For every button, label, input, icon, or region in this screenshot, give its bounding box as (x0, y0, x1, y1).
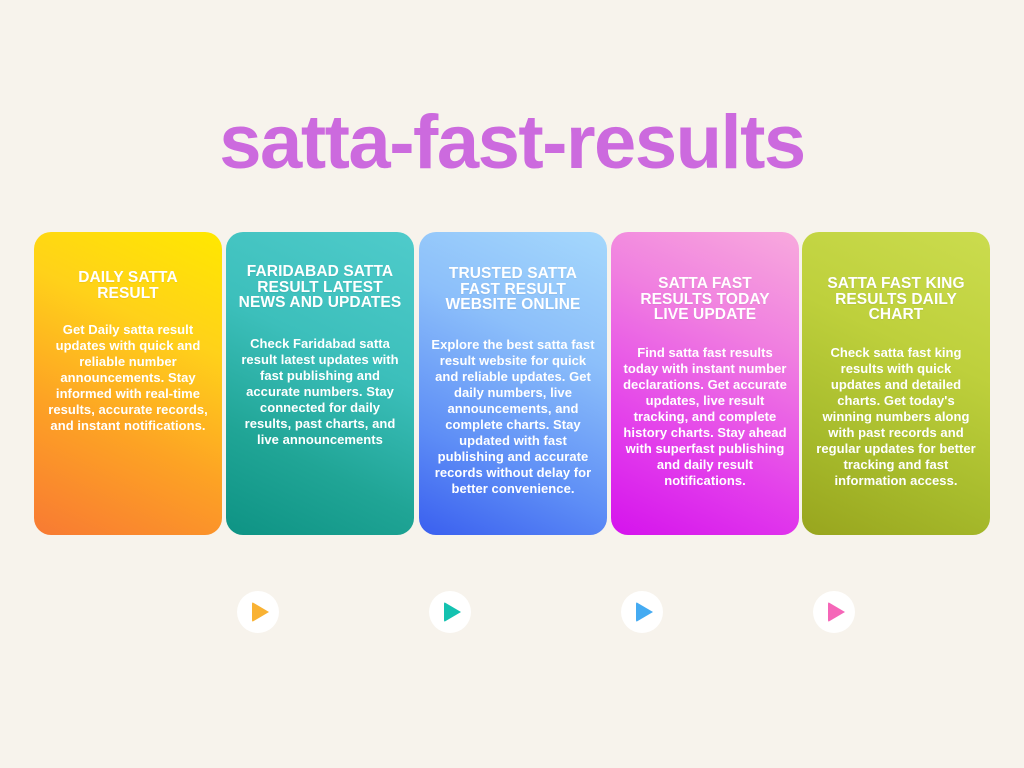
card-title: SATTA FAST RESULTS TODAY LIVE UPDATE (621, 276, 789, 323)
card-satta-fast-king-results-daily-chart[interactable]: SATTA FAST KING RESULTS DAILY CHART Chec… (802, 232, 990, 535)
play-arrow-glyph (444, 602, 461, 622)
card-title: FARIDABAD SATTA RESULT LATEST NEWS AND U… (236, 264, 404, 311)
card-trusted-satta-fast-result-website[interactable]: TRUSTED SATTA FAST RESULT WEBSITE ONLINE… (419, 232, 607, 535)
card-body: Explore the best satta fast result websi… (429, 337, 597, 497)
card-body: Check Faridabad satta result latest upda… (236, 336, 404, 448)
card-body: Check satta fast king results with quick… (812, 345, 980, 489)
play-arrow-icon-4[interactable] (813, 591, 855, 633)
play-arrow-glyph (636, 602, 653, 622)
card-body: Get Daily satta result updates with quic… (44, 322, 212, 434)
play-arrow-icon-2[interactable] (429, 591, 471, 633)
play-arrow-icon-1[interactable] (237, 591, 279, 633)
card-title: SATTA FAST KING RESULTS DAILY CHART (812, 276, 980, 323)
card-title: DAILY SATTA RESULT (44, 270, 212, 301)
play-arrow-glyph (828, 602, 845, 622)
card-faridabad-satta-result-latest-news[interactable]: FARIDABAD SATTA RESULT LATEST NEWS AND U… (226, 232, 414, 535)
play-arrow-icon-3[interactable] (621, 591, 663, 633)
card-daily-satta-result[interactable]: DAILY SATTA RESULT Get Daily satta resul… (34, 232, 222, 535)
page-title: satta-fast-results (0, 100, 1024, 186)
card-satta-fast-results-today-live-update[interactable]: SATTA FAST RESULTS TODAY LIVE UPDATE Fin… (611, 232, 799, 535)
card-title: TRUSTED SATTA FAST RESULT WEBSITE ONLINE (429, 266, 597, 313)
feature-cards-strip: DAILY SATTA RESULT Get Daily satta resul… (34, 232, 992, 535)
play-arrow-glyph (252, 602, 269, 622)
card-body: Find satta fast results today with insta… (621, 345, 789, 489)
